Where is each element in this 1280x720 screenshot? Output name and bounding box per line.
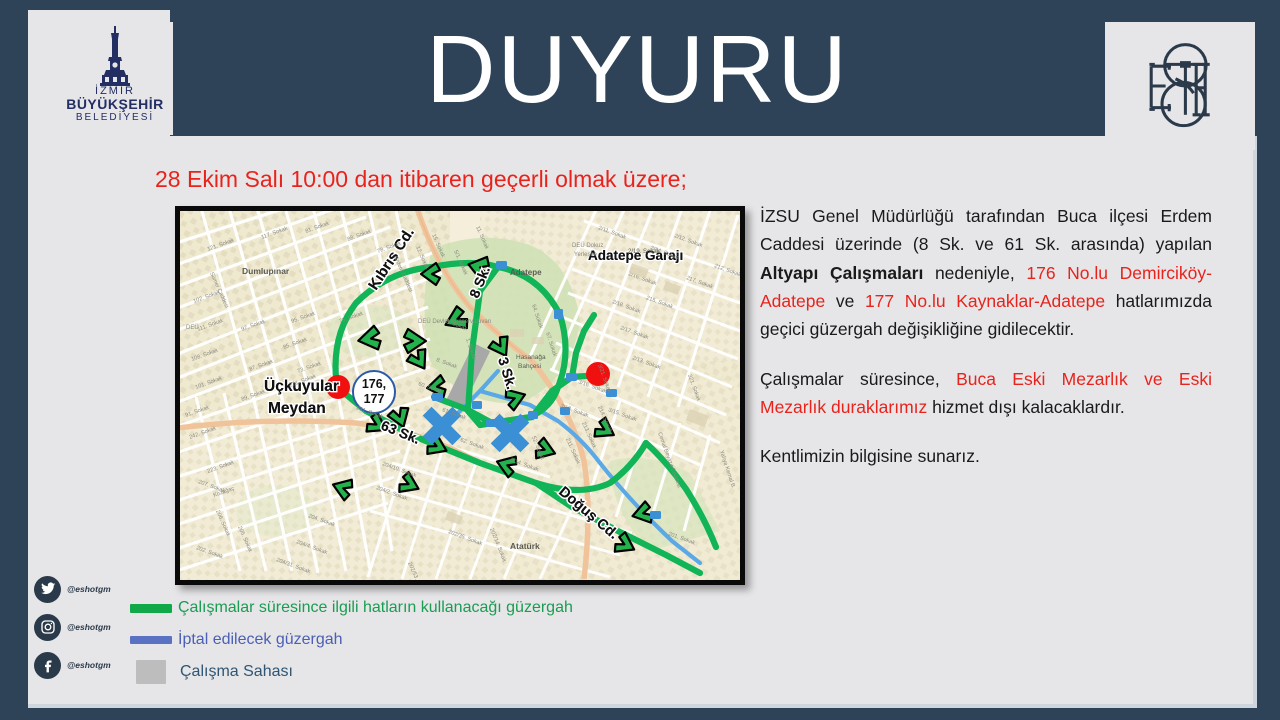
paragraph-1-run-2: nedeniyle, [923,263,1026,283]
route-badge-line2: 177 [364,392,385,406]
headline-date: 28 Ekim Salı 10:00 dan itibaren geçerli … [155,166,687,193]
social-links: @eshotgm @eshotgm @eshotgm [34,572,144,686]
izmir-logo-line3: BELEDİYESİ [76,112,154,123]
svg-text:DEÜ: DEÜ [186,324,199,331]
map-label-dumlupinar: Dumlupınar [242,266,290,276]
svg-text:Yerleşke: Yerleşke [574,252,597,258]
paragraph-2-run-2: hizmet dışı kalacaklardır. [927,397,1124,417]
social-row-facebook[interactable]: @eshotgm [34,648,144,682]
map-canvas: 176, 177 Adatepe Garajı Adatepe Garajı Ü… [180,211,740,580]
paragraph-1-run-1: Altyapı Çalışmaları [760,263,923,283]
map-label-ataturk: Atatürk [510,541,540,551]
route-map[interactable]: 176, 177 Adatepe Garajı Adatepe Garajı Ü… [175,206,745,585]
svg-text:DEÜ Devlet Konservatuvarı: DEÜ Devlet Konservatuvarı [418,318,492,325]
legend-item-active-route: Çalışmalar süresince ilgili hatların kul… [130,592,730,624]
map-label-hasanaga-bahcesi: Bahçesi [518,363,541,370]
twitter-handle: @eshotgm [67,584,111,594]
izmir-logo-line2: BÜYÜKŞEHİR [66,97,164,112]
legend-label-active-route: Çalışmalar süresince ilgili hatların kul… [178,599,573,617]
paragraph-3: Kentlimizin bilgisine sunarız. [760,442,1212,470]
announcement-poster: İZMİR BÜYÜKŞEHİR BELEDİYESİ DUYURU [0,0,1280,720]
announcement-text: İZSU Genel Müdürlüğü tarafından Buca ilç… [760,202,1212,471]
social-row-instagram[interactable]: @eshotgm [34,610,144,644]
svg-text:Meydan: Meydan [268,400,326,417]
map-legend: Çalışmalar süresince ilgili hatların kul… [130,592,730,688]
clock-tower-icon [80,24,150,86]
legend-label-work-zone: Çalışma Sahası [180,663,293,681]
eshot-logo [1105,22,1255,150]
instagram-icon[interactable] [34,614,61,641]
legend-label-cancelled-route: İptal edilecek güzergah [178,631,343,649]
legend-item-work-zone: Çalışma Sahası [130,656,730,688]
legend-item-cancelled-route: İptal edilecek güzergah [130,624,730,656]
facebook-icon[interactable] [34,652,61,679]
paragraph-1: İZSU Genel Müdürlüğü tarafından Buca ilç… [760,202,1212,344]
paragraph-2: Çalışmalar süresince, Buca Eski Mezarlık… [760,365,1212,422]
svg-text:DEÜ Dokuz: DEÜ Dokuz [572,242,603,249]
izmir-belediyesi-logo: İZMİR BÜYÜKŞEHİR BELEDİYESİ [57,22,173,135]
paragraph-3-run-0: Kentlimizin bilgisine sunarız. [760,446,980,466]
instagram-handle: @eshotgm [67,622,111,632]
map-label-adatepe: Adatepe [510,268,542,277]
paragraph-2-run-0: Çalışmalar süresince, [760,369,956,389]
eshot-monogram-icon [1126,32,1234,140]
paragraph-gap-1 [760,344,1212,365]
route-badge-line1: 176, [362,377,386,391]
paragraph-1-run-4: ve [825,291,865,311]
map-label-hasanaga: Hasanağa [516,354,546,361]
body-panel-bottom-edge [28,704,1257,708]
twitter-icon[interactable] [34,576,61,603]
paragraph-1-run-0: İZSU Genel Müdürlüğü tarafından Buca ilç… [760,206,1212,254]
facebook-handle: @eshotgm [67,660,111,670]
paragraph-1-run-5: 177 No.lu Kaynaklar-Adatepe [865,291,1105,311]
social-row-twitter[interactable]: @eshotgm [34,572,144,606]
page-title: DUYURU [170,6,1105,134]
paragraph-gap-2 [760,421,1212,442]
